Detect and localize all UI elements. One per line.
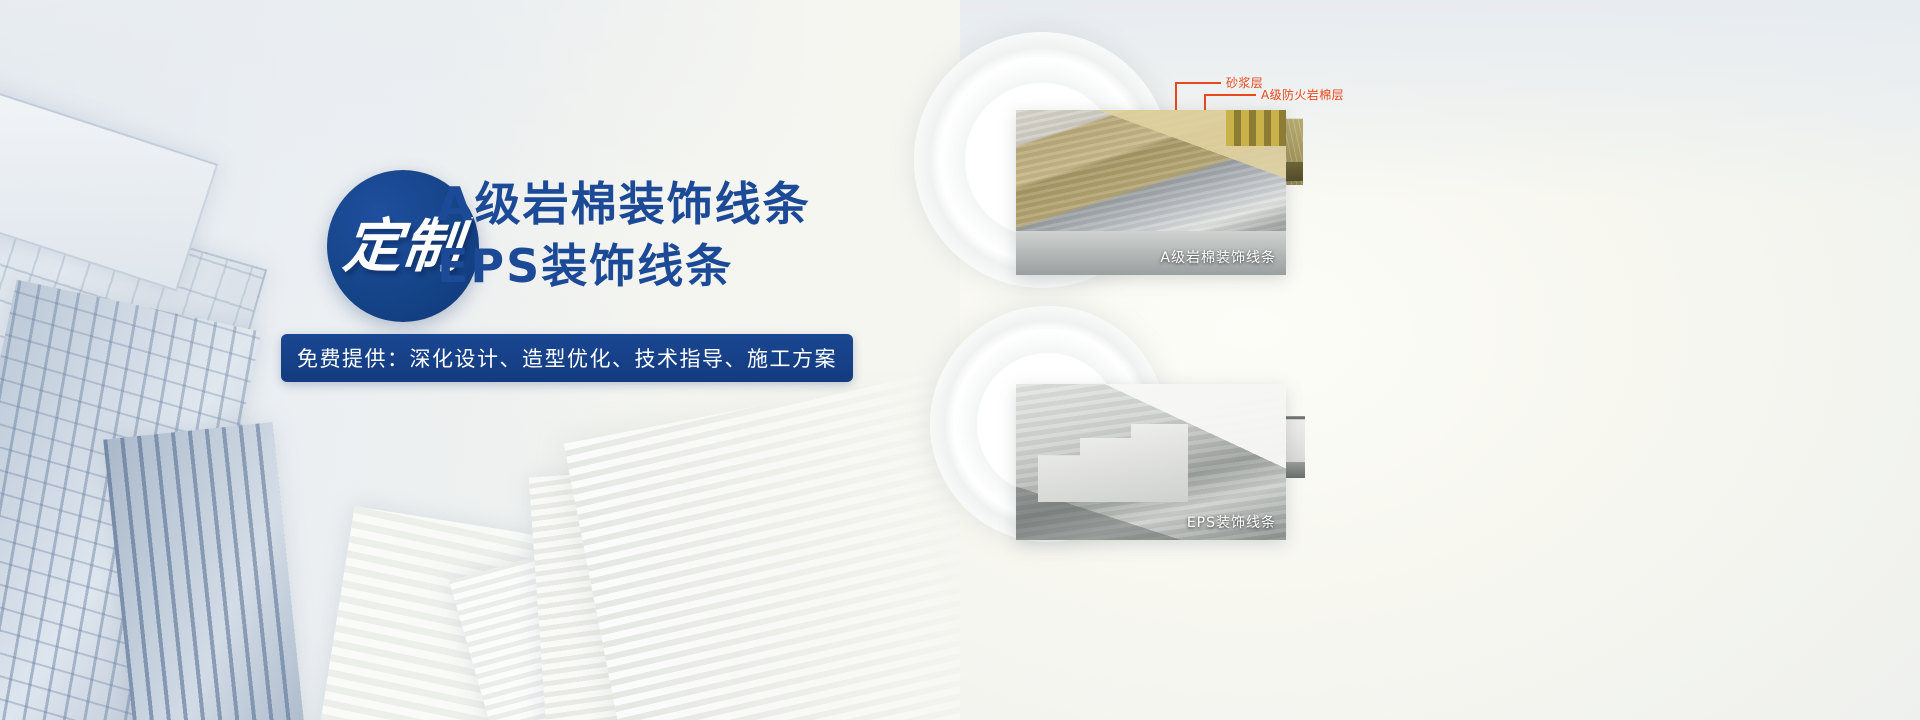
product-photo-rockwool-edge-strip: [1226, 110, 1286, 146]
product-caption-eps: EPS装饰线条: [1187, 512, 1276, 532]
rockwool-label-2: A级防火岩棉层: [1261, 86, 1344, 103]
rockwool-leader-line-2: [1204, 94, 1256, 96]
headline-line-2: EPS装饰线条: [437, 235, 957, 297]
free-services-bar[interactable]: 免费提供：深化设计、造型优化、技术指导、施工方案: [281, 334, 853, 382]
free-services-text: 免费提供：深化设计、造型优化、技术指导、施工方案: [297, 343, 837, 373]
promo-banner: 定制 A级岩棉装饰线条 EPS装饰线条 免费提供：深化设计、造型优化、技术指导、…: [0, 0, 1920, 720]
headline-line-1: A级岩棉装饰线条: [437, 173, 957, 235]
rockwool-label-1: 砂浆层: [1226, 74, 1263, 91]
headline-block: A级岩棉装饰线条 EPS装饰线条: [437, 173, 957, 297]
rockwool-leader-line-1: [1175, 82, 1221, 84]
product-photo-eps: EPS装饰线条: [1016, 384, 1286, 540]
product-caption-rockwool: A级岩棉装饰线条: [1160, 247, 1276, 267]
product-photo-rockwool: A级岩棉装饰线条: [1016, 110, 1286, 275]
